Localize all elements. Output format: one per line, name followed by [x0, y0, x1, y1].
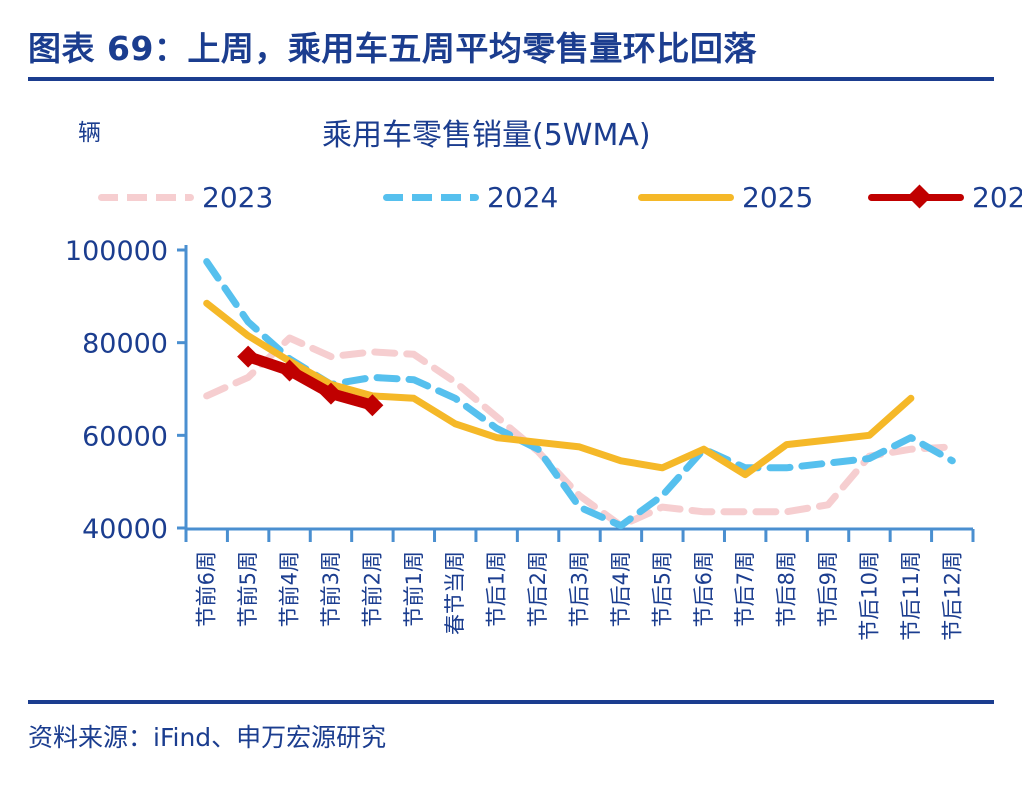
chart-page: 图表 69：上周，乘用车五周平均零售量环比回落 辆 乘用车零售销量(5WMA) … — [0, 0, 1022, 792]
x-tick-label: 节后2周 — [526, 551, 550, 627]
source-note: 资料来源：iFind、申万宏源研究 — [28, 718, 994, 754]
x-tick-label: 节前1周 — [402, 551, 426, 627]
plot-area: 400006000080000100000节前6周节前5周节前4周节前3周节前2… — [0, 95, 1022, 695]
page-title: 图表 69：上周，乘用车五周平均零售量环比回落 — [28, 22, 994, 70]
x-tick-label: 节后11周 — [899, 551, 923, 641]
y-tick-label: 40000 — [82, 514, 168, 545]
header: 图表 69：上周，乘用车五周平均零售量环比回落 — [28, 22, 994, 81]
x-tick-label: 节后1周 — [485, 551, 509, 627]
y-tick-label: 80000 — [82, 329, 168, 360]
x-tick-label: 节后3周 — [568, 551, 592, 627]
x-tick-label: 节前5周 — [236, 551, 260, 627]
y-tick-label: 100000 — [65, 236, 168, 267]
header-divider — [28, 77, 994, 81]
x-tick-label: 节前4周 — [278, 551, 302, 627]
x-tick-label: 节前2周 — [360, 551, 384, 627]
x-tick-label: 节前6周 — [195, 551, 219, 627]
x-tick-label: 节后12周 — [940, 551, 964, 641]
footer: 资料来源：iFind、申万宏源研究 — [28, 700, 994, 754]
x-tick-label: 节后7周 — [733, 551, 757, 627]
footer-divider — [28, 700, 994, 704]
y-tick-label: 60000 — [82, 421, 168, 452]
x-tick-label: 节后6周 — [692, 551, 716, 627]
x-tick-label: 节后10周 — [857, 551, 881, 641]
x-tick-label: 节前3周 — [319, 551, 343, 627]
x-tick-label: 春节当周 — [443, 551, 467, 635]
x-tick-label: 节后9周 — [816, 551, 840, 627]
x-tick-label: 节后8周 — [775, 551, 799, 627]
chart-container: 辆 乘用车零售销量(5WMA) 2023202420252026 4000060… — [0, 95, 1022, 695]
x-tick-label: 节后4周 — [609, 551, 633, 627]
x-tick-label: 节后5周 — [650, 551, 674, 627]
series-line-2023 — [207, 338, 953, 526]
